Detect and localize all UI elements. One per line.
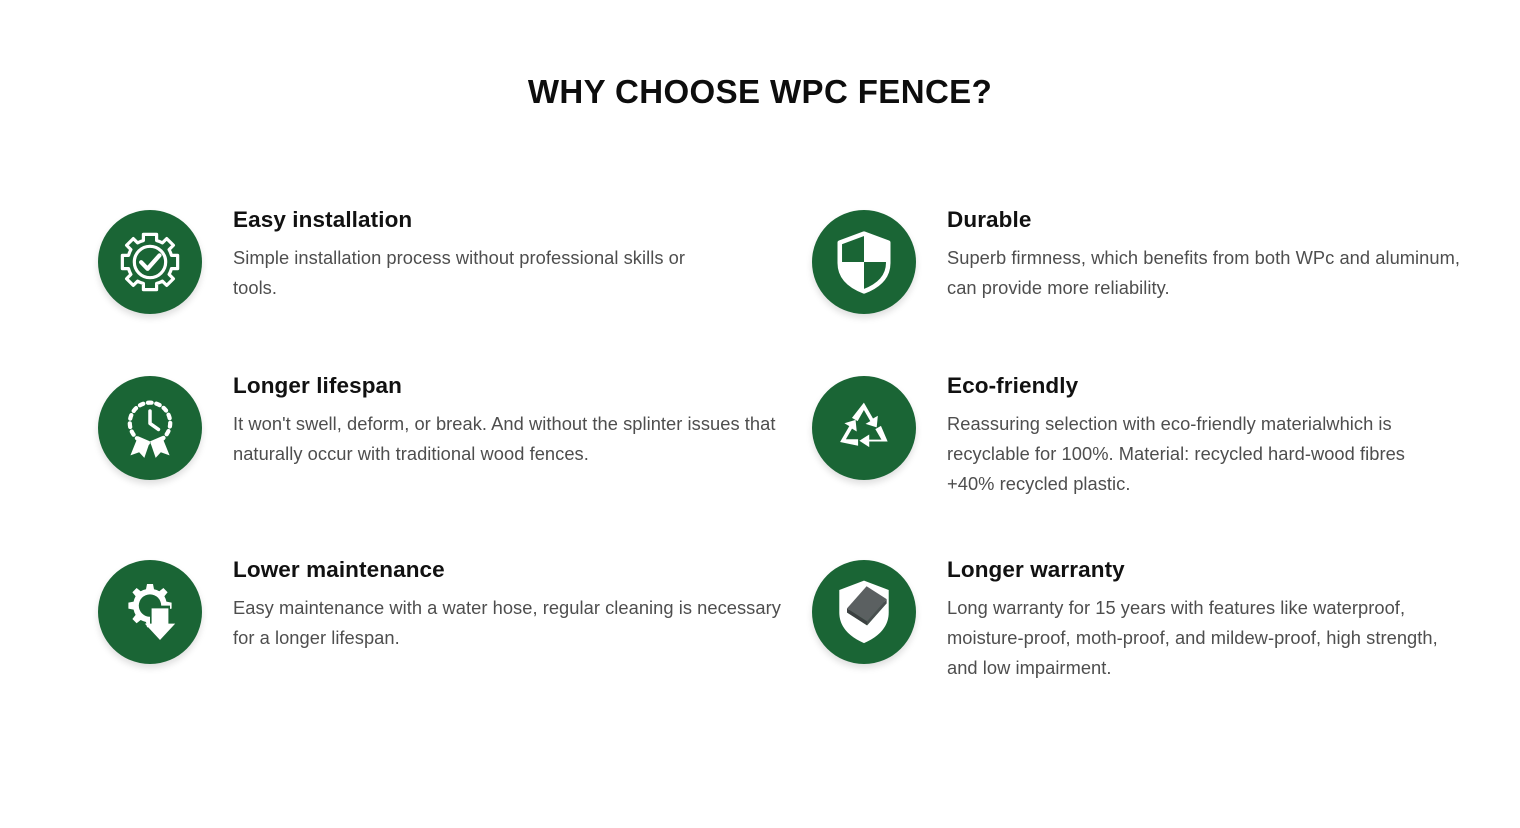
feature-description: It won't swell, deform, or break. And wi… [233, 409, 793, 469]
feature-item-durable: Durable Superb firmness, which benefits … [812, 204, 1502, 314]
feature-title: Longer warranty [947, 556, 1502, 584]
recycle-icon [833, 397, 895, 459]
icon-circle [812, 560, 916, 664]
feature-title: Lower maintenance [233, 556, 812, 584]
feature-title: Longer lifespan [233, 372, 812, 400]
feature-title: Durable [947, 206, 1502, 234]
feature-body: Longer warranty Long warranty for 15 yea… [947, 554, 1502, 682]
icon-circle [812, 376, 916, 480]
feature-description: Simple installation process without prof… [233, 243, 733, 303]
shield-plank-icon [831, 577, 897, 647]
feature-description: Easy maintenance with a water hose, regu… [233, 593, 785, 653]
feature-grid: Easy installation Simple installation pr… [0, 204, 1520, 683]
feature-item-easy-installation: Easy installation Simple installation pr… [98, 204, 812, 314]
feature-icon-wrap [98, 560, 202, 664]
feature-description: Superb firmness, which benefits from bot… [947, 243, 1477, 303]
gear-check-icon [117, 229, 183, 295]
icon-circle [98, 376, 202, 480]
gear-arrow-down-icon [118, 580, 182, 644]
feature-item-longer-lifespan: Longer lifespan It won't swell, deform, … [98, 370, 812, 498]
feature-item-longer-warranty: Longer warranty Long warranty for 15 yea… [812, 554, 1502, 682]
icon-circle [98, 210, 202, 314]
feature-icon-wrap [98, 376, 202, 480]
feature-icon-wrap [98, 210, 202, 314]
feature-description: Long warranty for 15 years with features… [947, 593, 1447, 682]
feature-title: Easy installation [233, 206, 812, 234]
clock-award-icon [119, 395, 181, 461]
feature-body: Longer lifespan It won't swell, deform, … [233, 370, 812, 469]
feature-body: Lower maintenance Easy maintenance with … [233, 554, 812, 653]
page-title: WHY CHOOSE WPC FENCE? [0, 72, 1520, 112]
shield-quartered-icon [833, 229, 895, 295]
feature-body: Easy installation Simple installation pr… [233, 204, 812, 303]
feature-icon-wrap [812, 210, 916, 314]
feature-icon-wrap [812, 376, 916, 480]
why-choose-wpc-fence-section: WHY CHOOSE WPC FENCE? Easy installation [0, 0, 1520, 828]
icon-circle [98, 560, 202, 664]
icon-circle [812, 210, 916, 314]
feature-body: Eco-friendly Reassuring selection with e… [947, 370, 1502, 498]
feature-item-lower-maintenance: Lower maintenance Easy maintenance with … [98, 554, 812, 682]
feature-item-eco-friendly: Eco-friendly Reassuring selection with e… [812, 370, 1502, 498]
feature-body: Durable Superb firmness, which benefits … [947, 204, 1502, 303]
feature-icon-wrap [812, 560, 916, 664]
feature-title: Eco-friendly [947, 372, 1502, 400]
feature-description: Reassuring selection with eco-friendly m… [947, 409, 1447, 498]
